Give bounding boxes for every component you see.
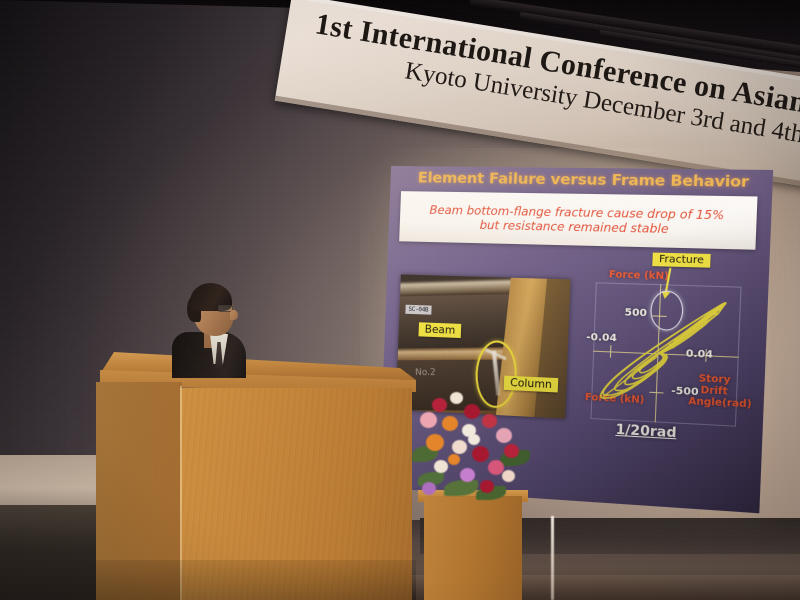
conference-photo-scene: 1st International Conference on Asian Ca… — [0, 0, 800, 600]
callout-line-2: but resistance remained stable — [479, 218, 668, 237]
specimen-label: SC-04B — [405, 305, 431, 315]
slide-callout-box: Beam bottom-flange fracture cause drop o… — [399, 191, 757, 250]
podium-base-shadow — [96, 560, 416, 600]
stage-light-reflection — [551, 516, 554, 600]
beam-tag: Beam — [418, 322, 461, 338]
flower-stand — [424, 496, 522, 600]
fracture-tag: Fracture — [652, 253, 711, 268]
specimen-faint-label: No.2 — [415, 368, 436, 378]
slide-title: Element Failure versus Frame Behavior — [404, 170, 764, 191]
speaker-profile-nose — [230, 310, 238, 320]
flower-arrangement — [404, 388, 536, 504]
hysteresis-chart-panel: Fracture 500 -500 -0.04 0.04 Force (kN) … — [575, 263, 756, 446]
